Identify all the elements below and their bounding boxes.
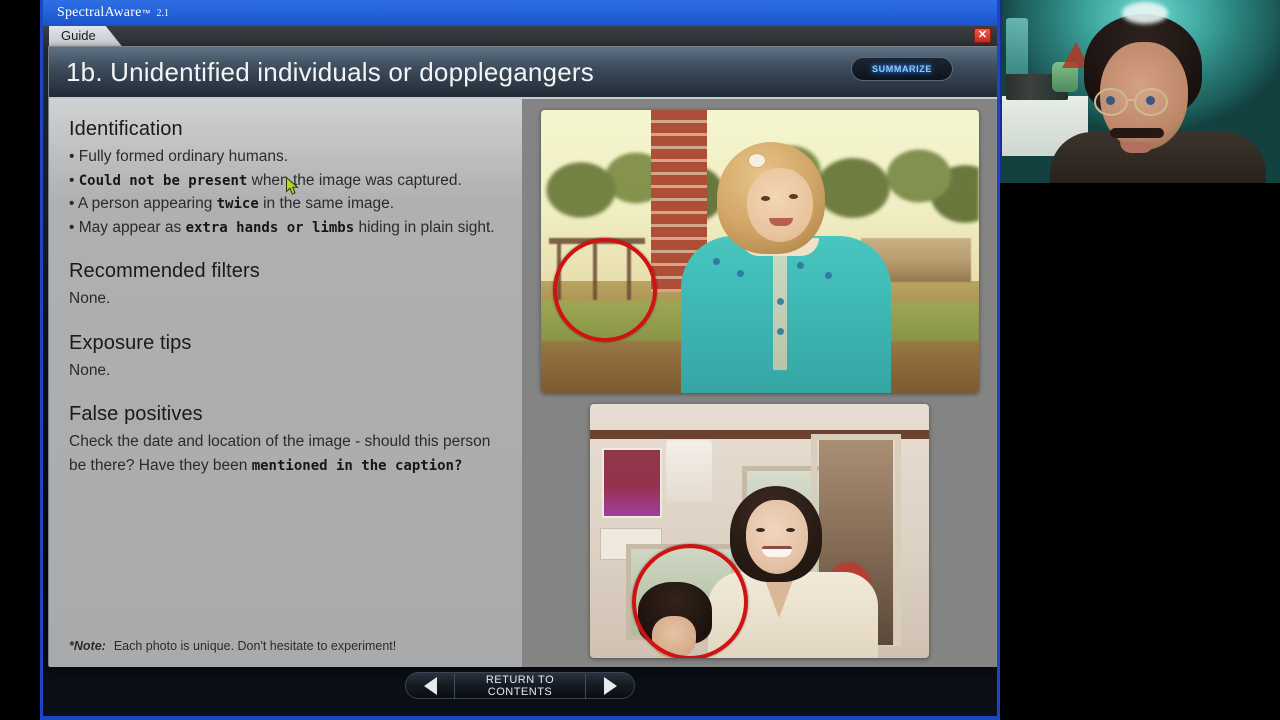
photo2-curtain: [666, 440, 712, 502]
photo2-annotation-circle: [632, 544, 748, 658]
navigation-pill[interactable]: RETURN TO CONTENTS: [405, 672, 635, 699]
tab-guide[interactable]: Guide: [49, 26, 122, 46]
photo1-girl-mouth: [769, 218, 793, 226]
false-positives-body: Check the date and location of the image…: [69, 430, 500, 477]
bullet-item: • May appear as extra hands or limbs hid…: [69, 216, 500, 240]
return-to-contents-button[interactable]: RETURN TO CONTENTS: [454, 674, 586, 698]
photo1-hair-clip: [749, 154, 765, 167]
note-line: *Note:Each photo is unique. Don't hesita…: [69, 639, 396, 653]
example-images-panel: [522, 99, 997, 667]
photo1-annotation-circle: [553, 238, 657, 342]
webcam-person-moustache: [1110, 128, 1164, 138]
photo2-wall-poster: [602, 448, 662, 518]
bullet-item: • A person appearing twice in the same i…: [69, 192, 500, 216]
note-label: *Note:: [69, 639, 106, 653]
photo2-woman-face: [746, 500, 808, 574]
tab-strip: Guide: [43, 26, 997, 46]
summarize-button[interactable]: SUMMARIZE: [851, 57, 953, 81]
example-photo-girl-teal-dress[interactable]: [541, 110, 979, 393]
example-photo-woman-indoor[interactable]: [590, 404, 929, 658]
triangle-right-icon[interactable]: [586, 677, 634, 695]
identification-bullets: • Fully formed ordinary humans. • Could …: [69, 145, 500, 239]
note-text: Each photo is unique. Don't hesitate to …: [114, 639, 396, 653]
webcam-lamp: [1006, 18, 1028, 76]
title-bar: SpectralAware™ 2.1: [43, 0, 997, 26]
app-version: 2.1: [157, 8, 170, 19]
photo1-girl-eye-right: [789, 194, 798, 199]
close-icon[interactable]: ✕: [974, 28, 991, 43]
bullet-item: • Fully formed ordinary humans.: [69, 145, 500, 169]
arrow-cursor: [286, 177, 299, 196]
photo2-woman-smile: [762, 546, 792, 557]
webcam-overlay: [1000, 0, 1280, 183]
glasses-bridge: [1128, 99, 1136, 101]
bullet-item: • Could not be present when the image wa…: [69, 169, 500, 193]
photo1-girl-face: [747, 168, 813, 242]
section-heading-exposure-tips: Exposure tips: [69, 332, 500, 355]
section-heading-false-positives: False positives: [69, 403, 500, 426]
glasses-lens-right: [1134, 88, 1168, 116]
content-card: 1b. Unidentified individuals or dopplega…: [48, 46, 998, 666]
page-title: 1b. Unidentified individuals or dopplega…: [49, 57, 594, 88]
photo2-woman-eye-right: [786, 528, 795, 532]
trademark-symbol: ™: [142, 8, 151, 18]
exposure-tips-body: None.: [69, 359, 500, 383]
bottom-navigation-bar: RETURN TO CONTENTS: [43, 662, 997, 716]
triangle-left-icon[interactable]: [406, 677, 454, 695]
section-heading-identification: Identification: [69, 118, 500, 141]
app-title: SpectralAware: [57, 5, 142, 21]
webcam-highlight: [1122, 2, 1168, 24]
screen-root: SpectralAware™ 2.1 Guide ✕ 1b. Unidentif…: [0, 0, 1280, 720]
recommended-filters-body: None.: [69, 287, 500, 311]
section-heading-recommended-filters: Recommended filters: [69, 260, 500, 283]
photo1-girl-eye-left: [761, 196, 770, 201]
photo1-dress-placket: [773, 250, 787, 370]
glasses-icon: [1094, 88, 1128, 116]
application-window: SpectralAware™ 2.1 Guide ✕ 1b. Unidentif…: [40, 0, 1000, 720]
summarize-label: SUMMARIZE: [872, 64, 932, 74]
page-header: 1b. Unidentified individuals or dopplega…: [49, 47, 997, 99]
photo2-woman-eye-left: [756, 528, 765, 532]
body-split: Identification • Fully formed ordinary h…: [49, 99, 997, 667]
